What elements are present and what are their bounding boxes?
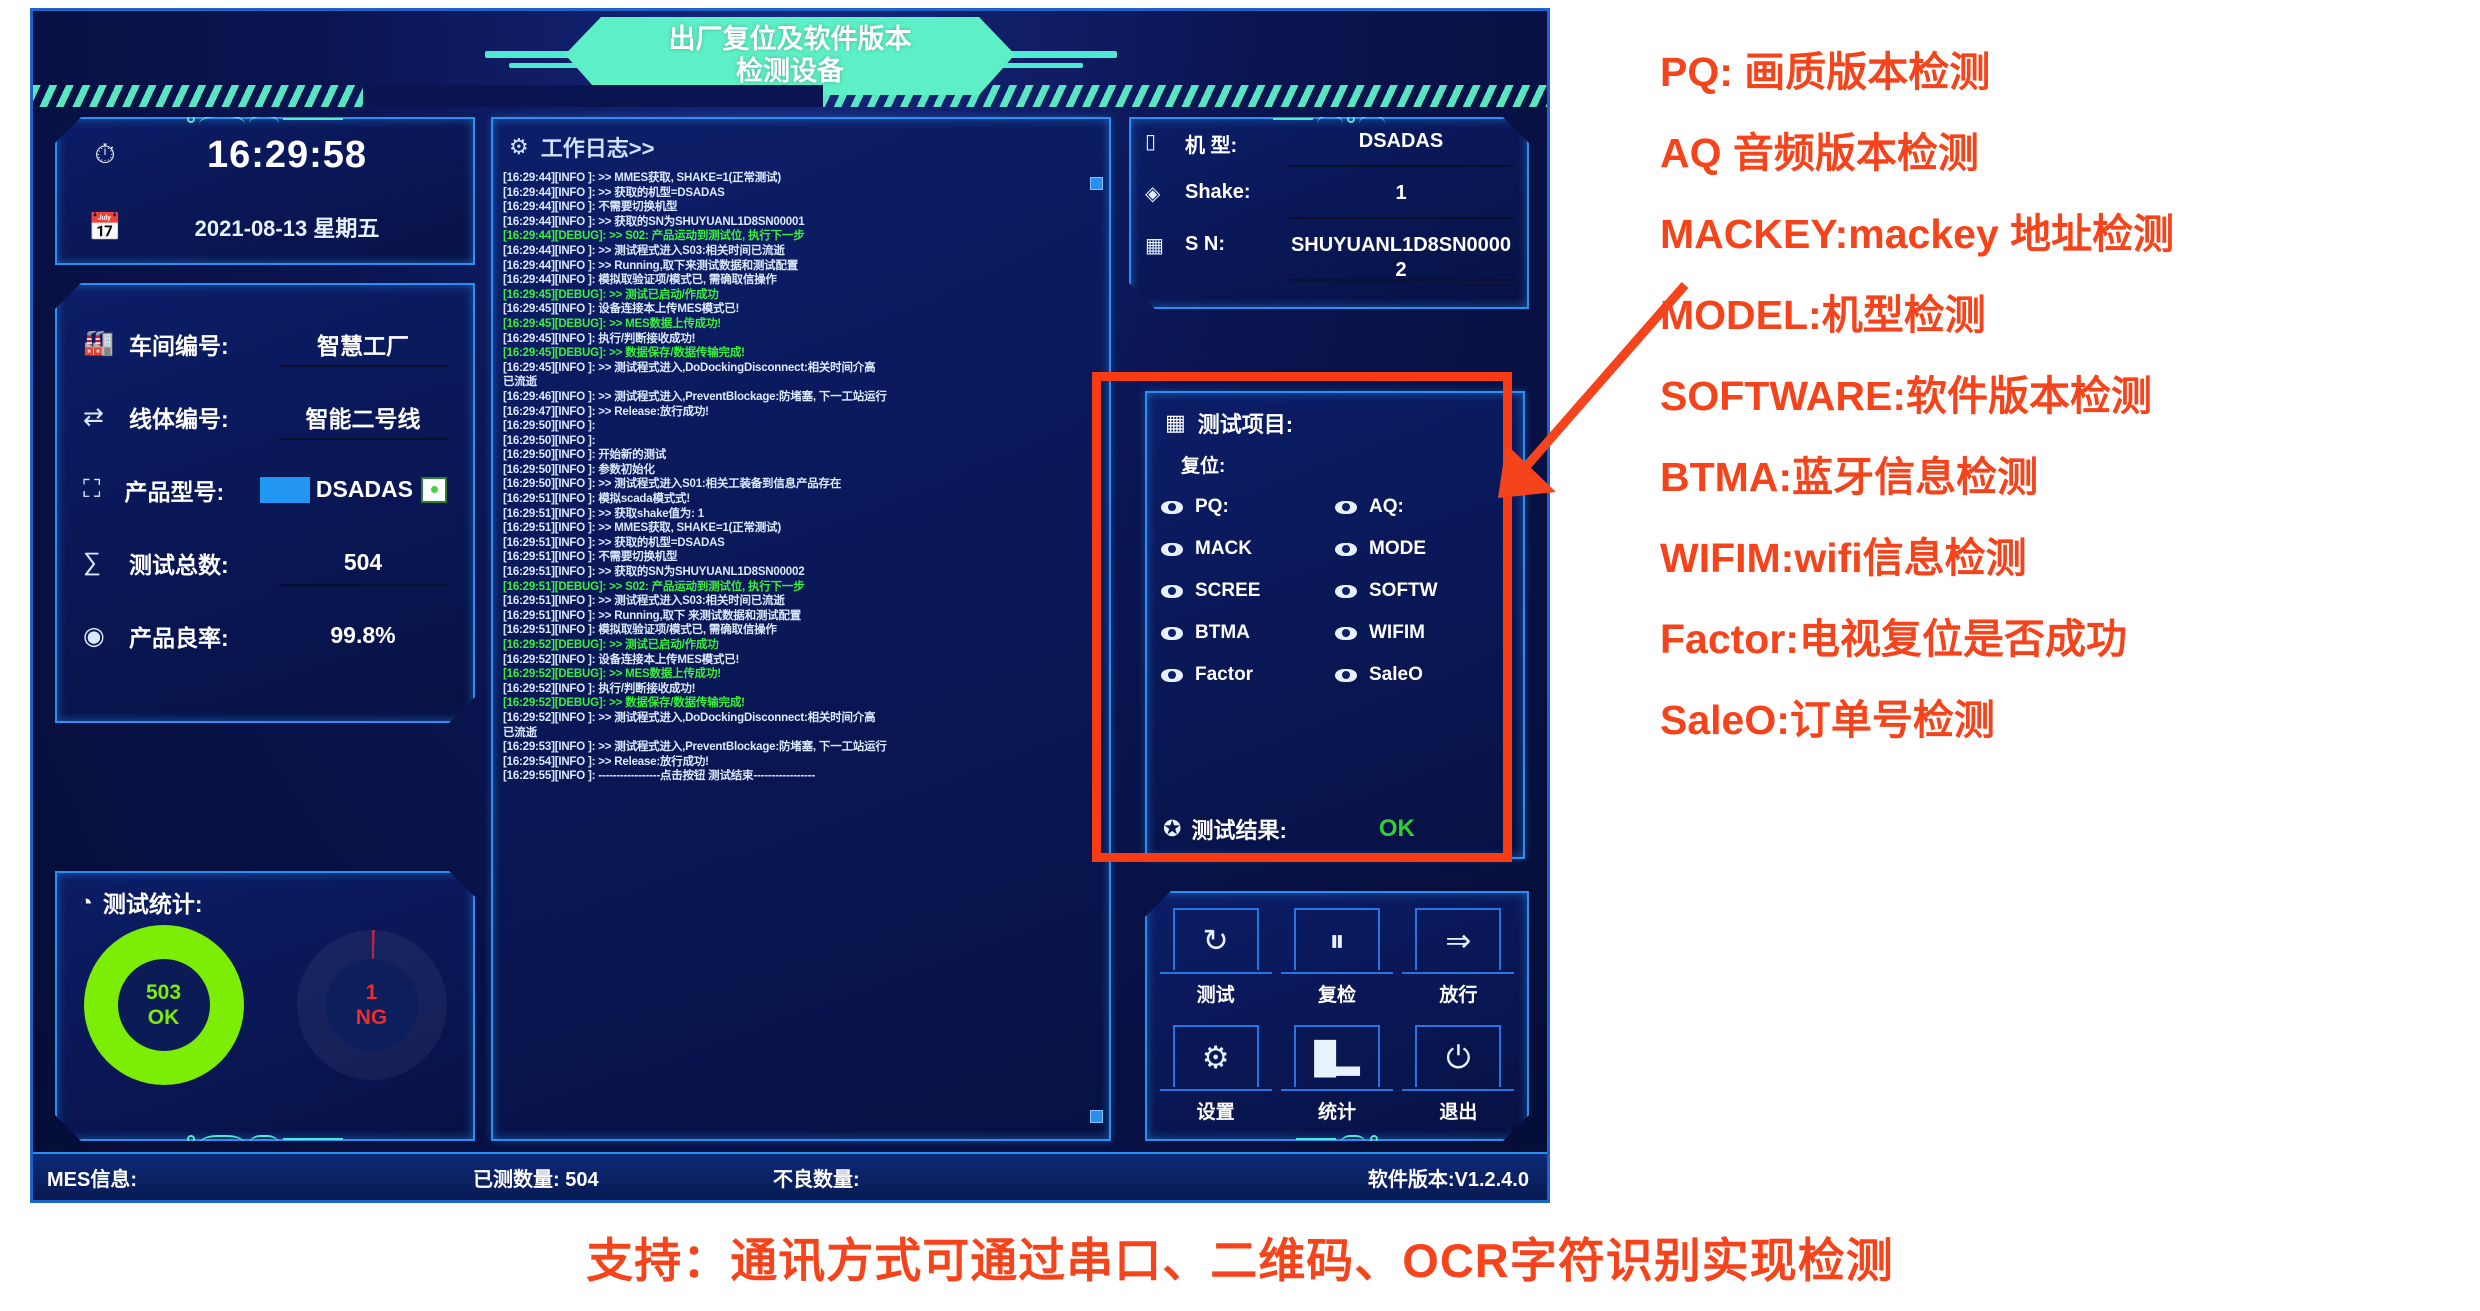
header-hatch-gap [363, 85, 823, 107]
panel-deco [187, 113, 343, 125]
button-separator [1402, 1089, 1514, 1091]
log-body[interactable]: [16:29:44][INFO ]: >> MMES获取, SHAKE=1(正常… [493, 169, 1109, 1129]
status-ng-count: 不良数量: [773, 1163, 860, 1192]
log-line: [16:29:50][INFO ]: 开始新的测试 [503, 448, 1083, 463]
action-button-复检[interactable]: ⏸复检 [1278, 901, 1395, 1014]
log-line: [16:29:51][INFO ]: >> MMES获取, SHAKE=1(正常… [503, 521, 1083, 536]
info-row-yield: ◉ 产品良率: 99.8% [57, 599, 473, 672]
device-info-panel: ▯ 机 型: DSADAS ◈ Shake: 1 ▦ S N: SHUYUANL… [1129, 117, 1529, 309]
gear-icon: ⚙ [1202, 1042, 1230, 1073]
log-line: [16:29:51][INFO ]: 模拟取验证项/模式已, 需确取信操作 [503, 623, 1083, 638]
annotation-note: MODEL:机型检测 [1660, 295, 2460, 336]
log-line: [16:29:51][INFO ]: 不需要切换机型 [503, 550, 1083, 565]
info-label-model: 产品型号: [125, 473, 260, 507]
log-line: [16:29:52][INFO ]: 设备连接本上传MES模式已! [503, 653, 1083, 668]
device-label-sn: S N: [1185, 229, 1289, 256]
yield-icon: ◉ [83, 621, 129, 651]
donut-ng: 1 NG [297, 930, 447, 1080]
pie-chart-icon: ◔ [79, 889, 93, 916]
log-line: [16:29:44][INFO ]: >> 获取的SN为SHUYUANL1D8S… [503, 215, 1083, 230]
log-line: [16:29:44][INFO ]: >> 测试程式进入S03:相关时间已流逝 [503, 244, 1083, 259]
annotation-note: SOFTWARE:软件版本检测 [1660, 376, 2460, 417]
donut-ok: 503 OK [84, 925, 244, 1085]
log-line: [16:29:45][DEBUG]: >> 数据保存/数据传输完成! [503, 346, 1083, 361]
button-frame: ⏸ [1294, 908, 1380, 970]
button-frame: ⏻ [1415, 1025, 1501, 1087]
device-row-sn: ▦ S N: SHUYUANL1D8SN00002 [1131, 223, 1527, 283]
app-title: 出厂复位及软件版本 检测设备 [565, 17, 1015, 95]
log-line: [16:29:50][INFO ]: >> 测试程式进入S01:相关工装备到信息… [503, 477, 1083, 492]
log-line: [16:29:51][INFO ]: 模拟scada模式式! [503, 492, 1083, 507]
action-button-放行[interactable]: ⇒放行 [1400, 901, 1517, 1014]
model-dropdown-button[interactable] [421, 477, 447, 503]
info-value-total: 504 [344, 549, 382, 576]
action-button-退出[interactable]: ⏻退出 [1400, 1018, 1517, 1131]
shake-icon: ◈ [1145, 177, 1185, 206]
log-line: 已流逝 [503, 375, 1083, 390]
tv-icon: ▯ [1145, 125, 1185, 154]
calendar-icon: 📅 [83, 211, 127, 243]
panel-deco-bottom [187, 1133, 343, 1145]
device-label-shake: Shake: [1185, 177, 1289, 204]
donut-ok-label: OK [146, 1005, 181, 1030]
donut-ok-value: 503 [146, 980, 181, 1005]
log-line: [16:29:45][INFO ]: 执行/判断接收成功! [503, 332, 1083, 347]
button-separator [1160, 972, 1272, 974]
annotation-note: MACKEY:mackey 地址检测 [1660, 214, 2460, 255]
line-icon: ⇄ [83, 402, 129, 432]
annotation-note: SaleO:订单号检测 [1660, 700, 2460, 741]
log-line: [16:29:52][DEBUG]: >> MES数据上传成功! [503, 667, 1083, 682]
status-software-version: 软件版本:V1.2.4.0 [1368, 1163, 1529, 1192]
button-separator [1281, 1089, 1393, 1091]
log-line: [16:29:44][INFO ]: >> 获取的机型=DSADAS [503, 186, 1083, 201]
log-line: [16:29:44][INFO ]: 不需要切换机型 [503, 200, 1083, 215]
log-line: [16:29:55][INFO ]: -----------------点击按钮… [503, 769, 1083, 784]
donut-ng-value: 1 [356, 980, 388, 1005]
clock-date-row: 📅 2021-08-13 星期五 [57, 191, 473, 263]
clock-date: 2021-08-13 星期五 [127, 211, 447, 243]
log-title: 工作日志>> [541, 131, 655, 163]
log-line: [16:29:51][INFO ]: >> 测试程式进入S03:相关时间已流逝 [503, 594, 1083, 609]
button-label: 测试 [1197, 980, 1235, 1007]
status-mes-info: MES信息: [47, 1163, 137, 1192]
info-value-model: DSADAS [316, 476, 413, 503]
log-line: [16:29:45][DEBUG]: >> MES数据上传成功! [503, 317, 1083, 332]
power-icon: ⏻ [1446, 1042, 1471, 1073]
log-line: [16:29:50][INFO ]: [503, 434, 1083, 449]
action-button-panel: ↻测试⏸复检⇒放行⚙设置█▂统计⏻退出 [1145, 891, 1529, 1141]
info-row-line: ⇄ 线体编号: 智能二号线 [57, 380, 473, 453]
log-line: [16:29:50][INFO ]: [503, 419, 1083, 434]
log-scrollbar-top-button[interactable] [1090, 177, 1103, 190]
model-color-swatch [260, 477, 310, 503]
info-row-model[interactable]: ⛶ 产品型号: DSADAS [57, 453, 473, 526]
stats-donuts: 503 OK 1 NG [57, 925, 473, 1085]
annotation-note: Factor:电视复位是否成功 [1660, 619, 2460, 660]
log-line: [16:29:52][INFO ]: 执行/判断接收成功! [503, 682, 1083, 697]
action-button-统计[interactable]: █▂统计 [1278, 1018, 1395, 1131]
sigma-icon: ∑ [83, 548, 129, 577]
log-line: [16:29:53][INFO ]: >> 测试程式进入,PreventBloc… [503, 740, 1083, 755]
play-refresh-icon: ↻ [1203, 925, 1229, 956]
app-title-line2: 检测设备 [736, 56, 844, 88]
info-label-total: 测试总数: [129, 546, 279, 580]
clock-time: 16:29:58 [127, 134, 447, 177]
clock-panel: ⏱ 16:29:58 📅 2021-08-13 星期五 [55, 117, 475, 265]
device-row-shake: ◈ Shake: 1 [1131, 171, 1527, 223]
log-line: [16:29:47][INFO ]: >> Release:放行成功! [503, 405, 1083, 420]
action-button-grid: ↻测试⏸复检⇒放行⚙设置█▂统计⏻退出 [1147, 893, 1527, 1139]
callout-highlight-box [1092, 372, 1512, 862]
info-row-workshop: 🏭 车间编号: 智慧工厂 [57, 307, 473, 380]
serial-icon: ▦ [1145, 229, 1185, 258]
log-line: [16:29:50][INFO ]: 参数初始化 [503, 463, 1083, 478]
status-bar: MES信息: 已测数量: 504 不良数量: 软件版本:V1.2.4.0 [33, 1152, 1547, 1200]
button-frame: █▂ [1294, 1025, 1380, 1087]
device-value-model: DSADAS [1359, 129, 1443, 154]
log-line: [16:29:51][INFO ]: >> Running,取下 来测试数据和测… [503, 609, 1083, 624]
action-button-设置[interactable]: ⚙设置 [1157, 1018, 1274, 1131]
log-line: [16:29:52][DEBUG]: >> 测试已启动/作成功 [503, 638, 1083, 653]
button-separator [1402, 972, 1514, 974]
pause-icon: ⏸ [1329, 925, 1345, 956]
info-value-line: 智能二号线 [306, 400, 421, 434]
log-line: [16:29:44][INFO ]: >> MMES获取, SHAKE=1(正常… [503, 171, 1083, 186]
button-frame: ⇒ [1415, 908, 1501, 970]
button-label: 退出 [1439, 1097, 1477, 1124]
annotation-note: AQ 音频版本检测 [1660, 133, 2460, 174]
log-icon: ⚙ [509, 134, 529, 160]
log-line: [16:29:44][INFO ]: >> Running,取下来测试数据和测试… [503, 259, 1083, 274]
button-label: 放行 [1439, 980, 1477, 1007]
log-line: [16:29:44][DEBUG]: >> S02: 产品运动到测试位, 执行下… [503, 229, 1083, 244]
product-icon: ⛶ [83, 475, 125, 504]
screenshot-root: 出厂复位及软件版本 检测设备 ⏱ 16:29:58 📅 2021-08-13 星… [0, 0, 2480, 1311]
annotation-note: BTMA:蓝牙信息检测 [1660, 457, 2460, 498]
log-line: [16:29:45][DEBUG]: >> 测试已启动/作成功 [503, 288, 1083, 303]
info-value-yield: 99.8% [330, 622, 395, 649]
stats-title: 测试统计: [103, 885, 203, 919]
log-line: [16:29:52][INFO ]: >> 测试程式进入,DoDockingDi… [503, 711, 1083, 726]
log-line: [16:29:51][INFO ]: >> 获取的SN为SHUYUANL1D8S… [503, 565, 1083, 580]
app-title-line1: 出厂复位及软件版本 [669, 24, 912, 56]
production-info-panel: 🏭 车间编号: 智慧工厂 ⇄ 线体编号: 智能二号线 ⛶ 产品型号: DSADA… [55, 283, 475, 723]
clock-time-row: ⏱ 16:29:58 [57, 119, 473, 191]
btn-panel-deco [1296, 1133, 1378, 1145]
button-label: 统计 [1318, 1097, 1356, 1124]
dev-panel-deco [1273, 113, 1385, 125]
log-line: [16:29:44][INFO ]: 模拟取验证项/模式已, 需确取信操作 [503, 273, 1083, 288]
device-label-model: 机 型: [1185, 125, 1289, 158]
status-tested-count: 已测数量: 504 [473, 1163, 599, 1192]
log-line: [16:29:51][INFO ]: >> 获取shake值为: 1 [503, 507, 1083, 522]
log-line: [16:29:45][INFO ]: 设备连接本上传MES模式已! [503, 302, 1083, 317]
factory-icon: 🏭 [83, 329, 129, 358]
donut-ng-label: NG [356, 1005, 388, 1030]
log-line: [16:29:52][DEBUG]: >> 数据保存/数据传输完成! [503, 696, 1083, 711]
info-row-total: ∑ 测试总数: 504 [57, 526, 473, 599]
log-line: [16:29:51][INFO ]: >> 获取的机型=DSADAS [503, 536, 1083, 551]
bar-chart-icon: █▂ [1314, 1042, 1360, 1073]
log-scrollbar-bottom-button[interactable] [1090, 1110, 1103, 1123]
device-row-model: ▯ 机 型: DSADAS [1131, 119, 1527, 171]
log-line: [16:29:45][INFO ]: >> 测试程式进入,DoDockingDi… [503, 361, 1083, 376]
annotation-list: PQ: 画质版本检测AQ 音频版本检测MACKEY:mackey 地址检测MOD… [1660, 52, 2460, 781]
test-statistics-panel: ◔ 测试统计: 503 OK 1 NG [55, 871, 475, 1141]
go-icon: ⇒ [1445, 925, 1471, 956]
button-frame: ⚙ [1173, 1025, 1259, 1087]
info-label-line: 线体编号: [129, 400, 279, 434]
info-label-yield: 产品良率: [129, 619, 279, 653]
info-value-workshop: 智慧工厂 [317, 327, 409, 361]
button-separator [1160, 1089, 1272, 1091]
button-separator [1281, 972, 1393, 974]
log-header: ⚙ 工作日志>> [493, 119, 1109, 169]
log-line: [16:29:51][DEBUG]: >> S02: 产品运动到测试位, 执行下… [503, 580, 1083, 595]
button-label: 复检 [1318, 980, 1356, 1007]
annotation-note: WIFIM:wifi信息检测 [1660, 538, 2460, 579]
work-log-panel: ⚙ 工作日志>> [16:29:44][INFO ]: >> MMES获取, S… [491, 117, 1111, 1141]
bottom-caption: 支持：通讯方式可通过串口、二维码、OCR字符识别实现检测 [0, 1222, 2480, 1291]
log-line: [16:29:46][INFO ]: >> 测试程式进入,PreventBloc… [503, 390, 1083, 405]
info-label-workshop: 车间编号: [129, 327, 279, 361]
log-line: 已流逝 [503, 726, 1083, 741]
stats-title-row: ◔ 测试统计: [57, 873, 473, 919]
action-button-测试[interactable]: ↻测试 [1157, 901, 1274, 1014]
annotation-note: PQ: 画质版本检测 [1660, 52, 2460, 93]
log-line: [16:29:54][INFO ]: >> Release:放行成功! [503, 755, 1083, 770]
device-value-shake: 1 [1395, 181, 1406, 206]
app-header: 出厂复位及软件版本 检测设备 [33, 11, 1547, 107]
button-label: 设置 [1197, 1097, 1235, 1124]
button-frame: ↻ [1173, 908, 1259, 970]
clock-icon: ⏱ [83, 139, 127, 171]
